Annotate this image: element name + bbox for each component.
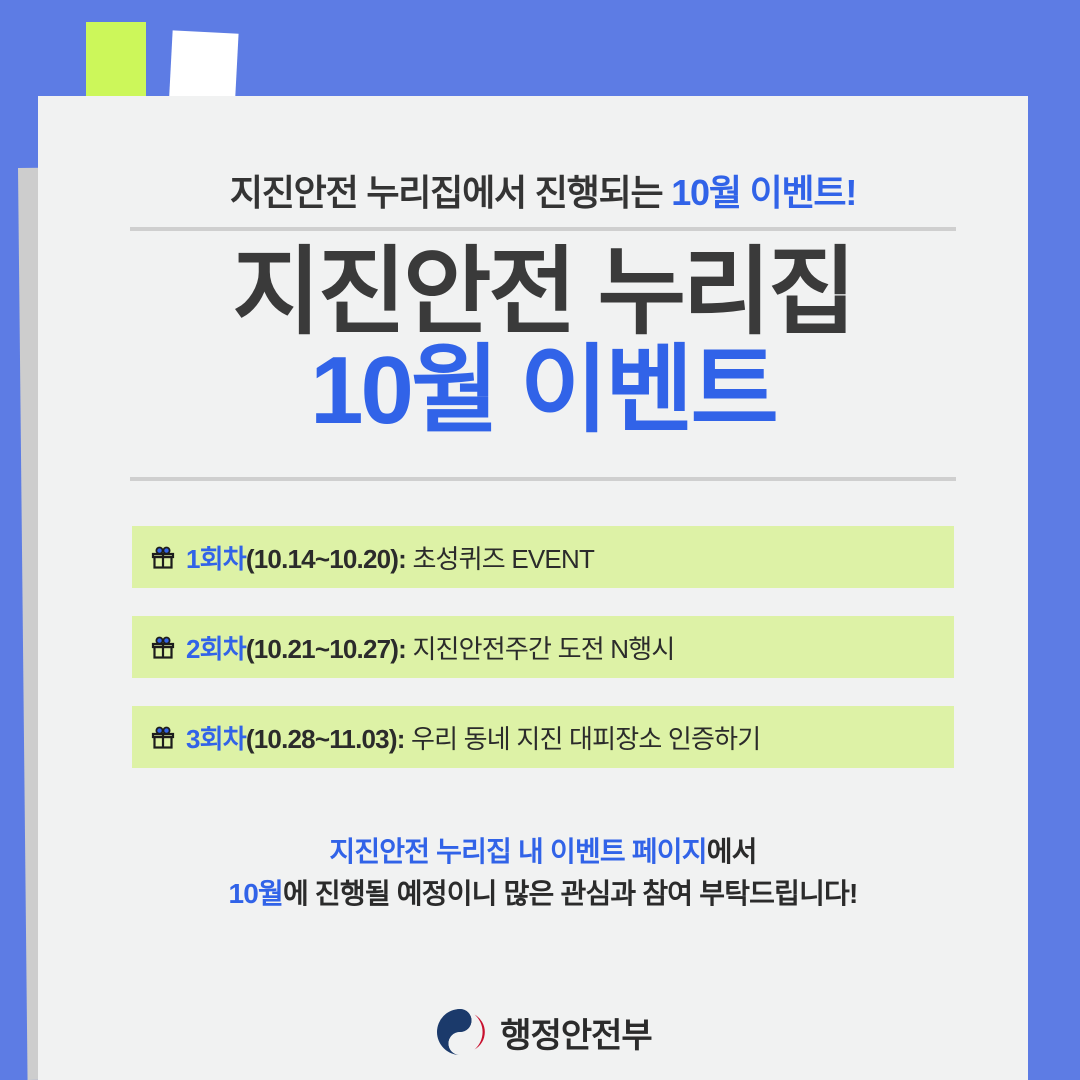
subtitle: 지진안전 누리집에서 진행되는 10월 이벤트! <box>130 164 956 216</box>
event-round-1: 1회차 <box>186 544 246 574</box>
closing-note-1-accent: 지진안전 누리집 내 이벤트 페이지 <box>329 836 706 867</box>
event-list: 1회차(10.14~10.20): 초성퀴즈 EVENT 2회차(10.21~1… <box>132 526 954 796</box>
korea-government-taegeuk-logo-icon <box>434 1006 486 1058</box>
title-line-2: 10월 이벤트 <box>130 342 956 440</box>
gift-icon <box>150 724 176 750</box>
gift-icon <box>150 634 176 660</box>
event-period-3: (10.28~11.03) <box>246 724 397 754</box>
gift-icon <box>150 544 176 570</box>
event-row-1-text: 1회차(10.14~10.20): 초성퀴즈 EVENT <box>186 539 594 576</box>
event-row-1: 1회차(10.14~10.20): 초성퀴즈 EVENT <box>132 526 954 588</box>
ministry-footer: 행정안전부 <box>130 1006 956 1058</box>
event-period-2: (10.21~10.27) <box>246 634 398 664</box>
title-line-1: 지진안전 누리집 <box>130 244 956 342</box>
closing-note-line-2: 10월에 진행될 예정이니 많은 관심과 참여 부탁드립니다! <box>130 873 956 915</box>
event-row-2: 2회차(10.21~10.27): 지진안전주간 도전 N행시 <box>132 616 954 678</box>
page-title: 지진안전 누리집 10월 이벤트 <box>130 244 956 440</box>
event-name-3: 우리 동네 지진 대피장소 인증하기 <box>411 724 760 754</box>
event-row-2-text: 2회차(10.21~10.27): 지진안전주간 도전 N행시 <box>186 629 674 666</box>
event-sep-3: : <box>397 724 411 754</box>
subtitle-accent: 10월 이벤트! <box>671 172 856 213</box>
divider-bottom <box>130 477 956 481</box>
event-row-3-text: 3회차(10.28~11.03): 우리 동네 지진 대피장소 인증하기 <box>186 719 760 756</box>
closing-note-2-accent: 10월 <box>228 878 283 909</box>
event-sep-2: : <box>398 634 412 664</box>
closing-note: 지진안전 누리집 내 이벤트 페이지에서 10월에 진행될 예정이니 많은 관심… <box>130 831 956 915</box>
closing-note-1-rest: 에서 <box>707 836 757 867</box>
closing-note-2-rest: 에 진행될 예정이니 많은 관심과 참여 부탁드립니다! <box>283 878 858 909</box>
event-sep-1: : <box>398 544 412 574</box>
event-period-1: (10.14~10.20) <box>246 544 398 574</box>
closing-note-line-1: 지진안전 누리집 내 이벤트 페이지에서 <box>130 831 956 873</box>
event-row-3: 3회차(10.28~11.03): 우리 동네 지진 대피장소 인증하기 <box>132 706 954 768</box>
poster-canvas: 지진안전 누리집에서 진행되는 10월 이벤트! 지진안전 누리집 10월 이벤… <box>0 0 1080 1080</box>
divider-top <box>130 227 956 231</box>
event-name-2: 지진안전주간 도전 N행시 <box>412 634 674 664</box>
card-content: 지진안전 누리집에서 진행되는 10월 이벤트! 지진안전 누리집 10월 이벤… <box>130 96 956 1080</box>
event-round-3: 3회차 <box>186 724 246 754</box>
ministry-name: 행정안전부 <box>500 1008 651 1057</box>
subtitle-lead: 지진안전 누리집에서 진행되는 <box>230 172 671 213</box>
event-round-2: 2회차 <box>186 634 246 664</box>
event-name-1: 초성퀴즈 EVENT <box>412 544 594 574</box>
main-card: 지진안전 누리집에서 진행되는 10월 이벤트! 지진안전 누리집 10월 이벤… <box>38 96 1028 1080</box>
